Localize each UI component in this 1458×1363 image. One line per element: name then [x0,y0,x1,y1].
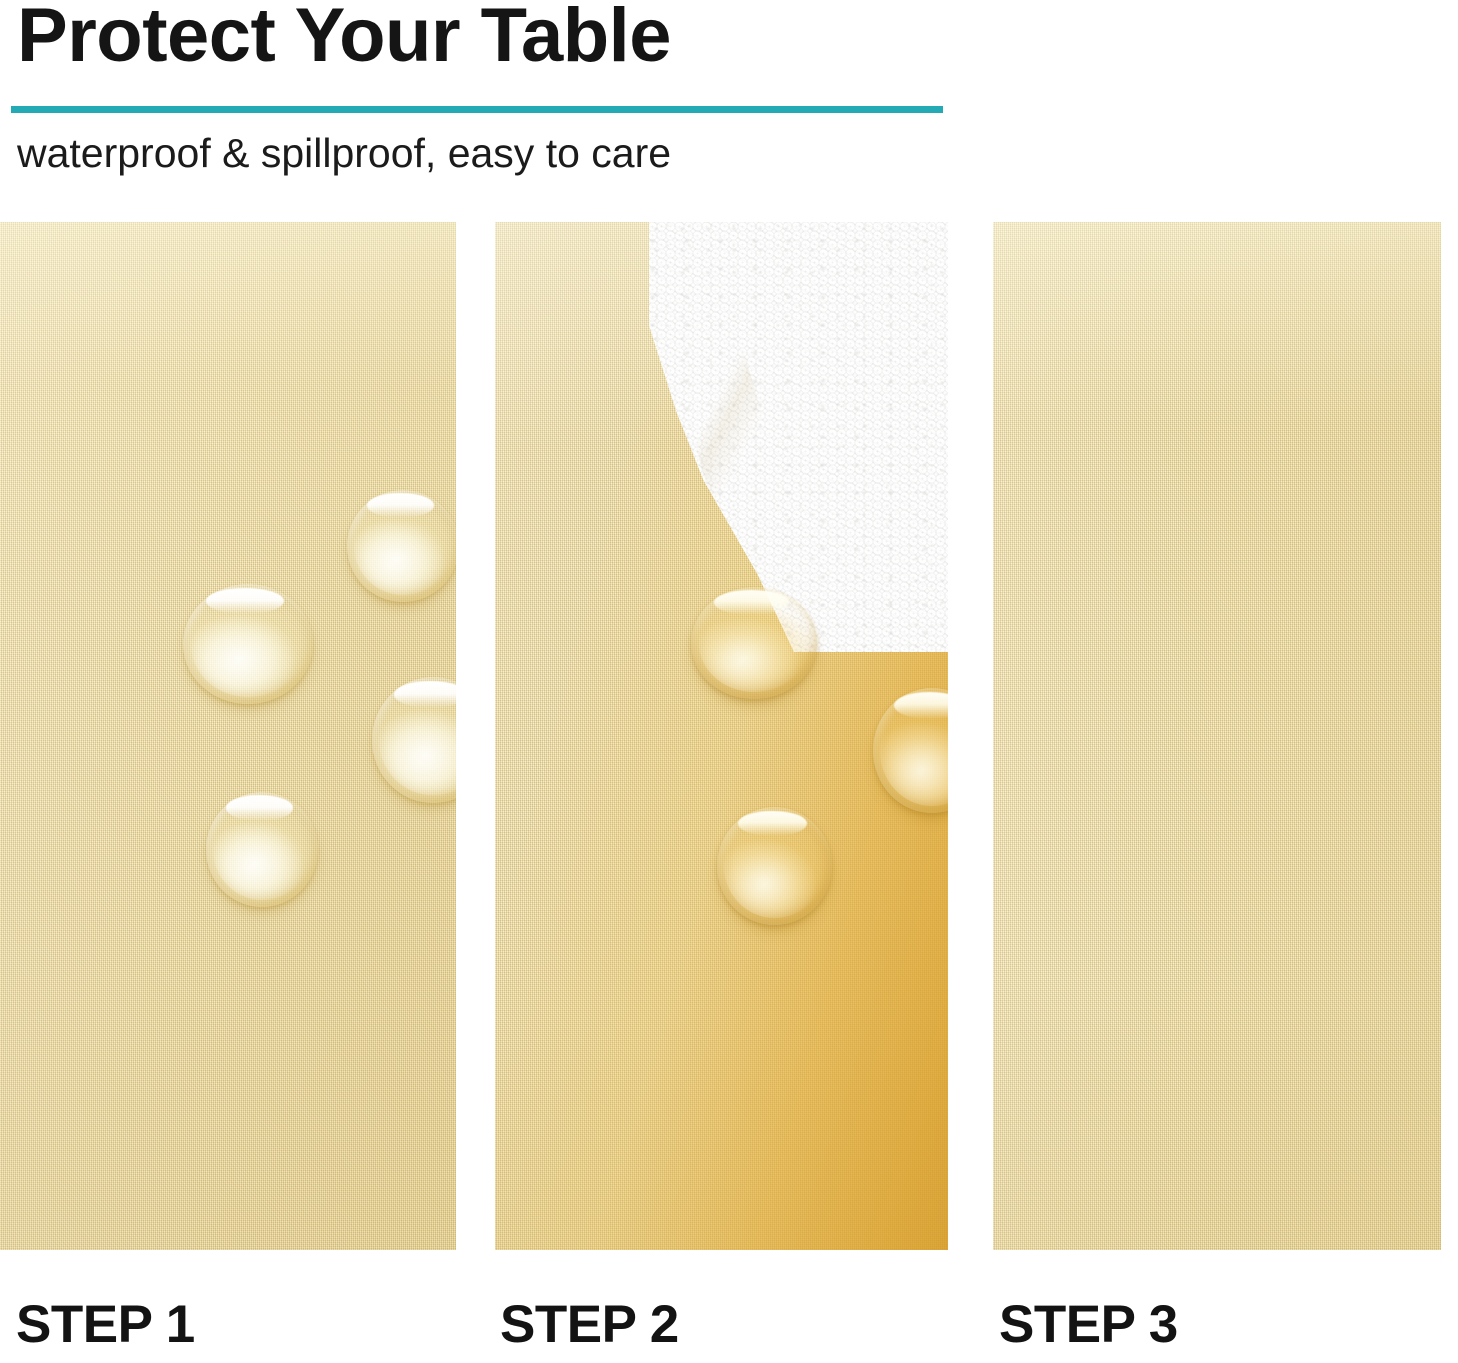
step-label-3: STEP 3 [999,1298,1178,1351]
step-3-image-panel [993,222,1441,1250]
step-caption-row: STEP 1 STEP 2 STEP 3 [0,1250,1458,1363]
header: Protect Your Table waterproof & spillpro… [0,0,1458,200]
fabric-lighting [993,222,1441,1250]
page-title: Protect Your Table [17,0,671,77]
water-droplet [717,807,832,925]
step-label-2: STEP 2 [500,1298,679,1351]
step-2-image-panel [495,222,948,1250]
water-droplet [206,792,318,907]
water-droplet [347,490,456,602]
step-1-image-panel [0,222,456,1250]
step-label-1: STEP 1 [16,1298,195,1351]
panel-strip [0,222,1458,1250]
title-divider-rule [11,106,943,113]
page-subtitle: waterproof & spillproof, easy to care [17,129,671,177]
water-droplet [183,584,313,704]
water-droplet [691,587,817,699]
